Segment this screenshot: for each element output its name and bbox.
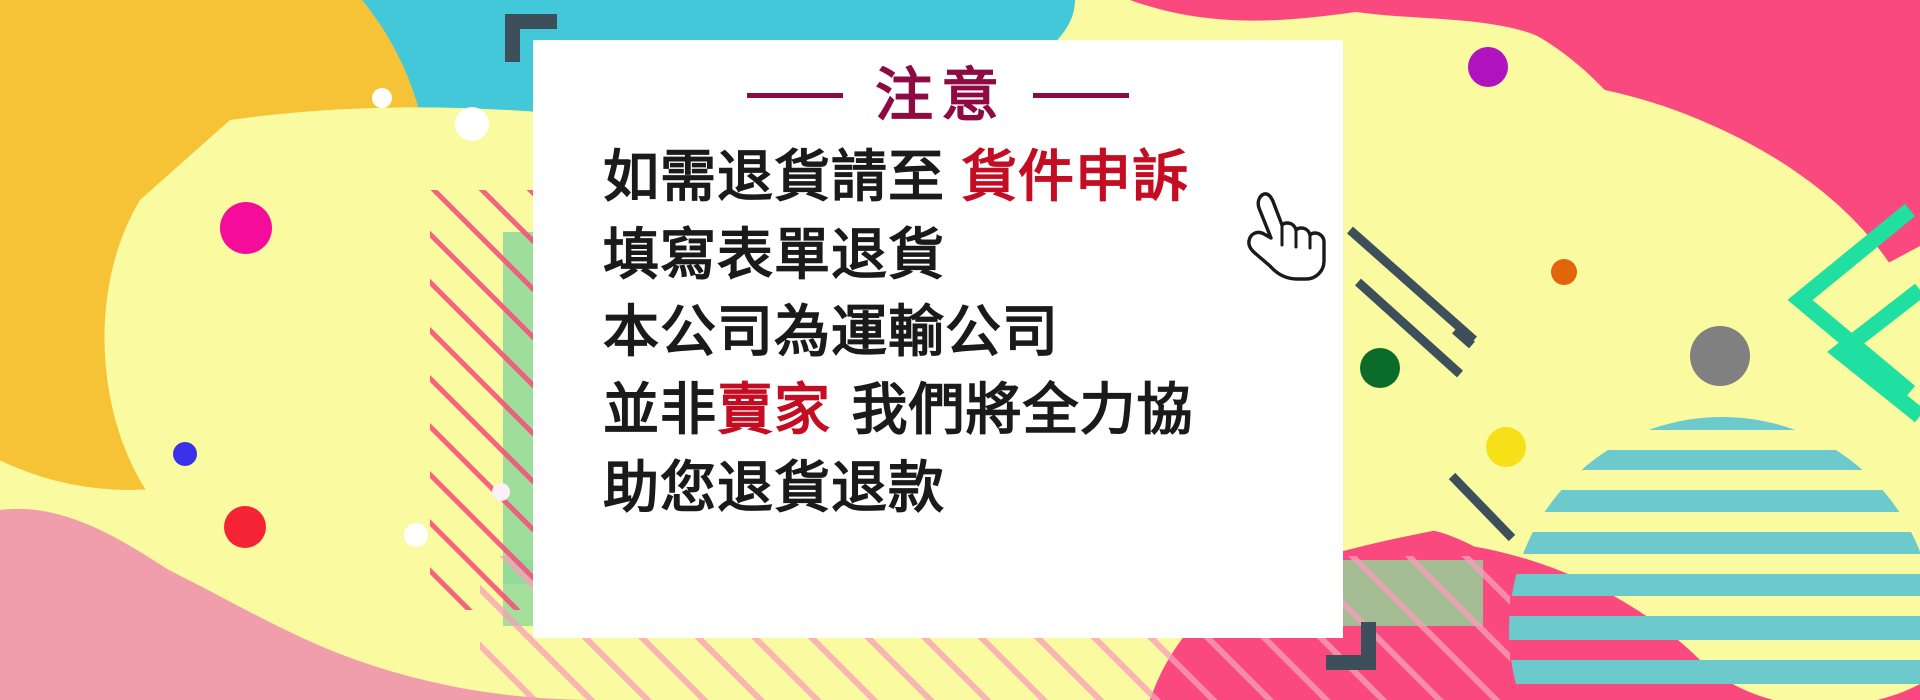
corner-bracket-bottom-right — [1326, 622, 1376, 670]
dot-red — [224, 506, 266, 548]
notice-card-content: 注意 如需退貨請至貨件申訴 填寫表單退貨 本公司為運輸公司 並非賣家 我們將全力… — [533, 40, 1343, 638]
notice-line-2: 填寫表單退貨 — [603, 220, 1303, 292]
dot-dark-green — [1360, 348, 1400, 388]
notice-title-row: 注意 — [573, 54, 1303, 136]
dot-gray — [1690, 326, 1750, 386]
notice-line-5: 助您退貨退款 — [603, 453, 1303, 525]
dot-magenta — [220, 202, 272, 254]
notice-line-3: 本公司為運輸公司 — [603, 297, 1303, 369]
notice-line-4-emphasis: 賣家 — [717, 378, 831, 443]
notice-line-4-suffix: 我們將全力協 — [831, 378, 1194, 443]
dot-white-d — [492, 483, 510, 501]
notice-line-1-link[interactable]: 貨件申訴 — [961, 145, 1189, 210]
promo-banner: 注意 如需退貨請至貨件申訴 填寫表單退貨 本公司為運輸公司 並非賣家 我們將全力… — [0, 0, 1920, 700]
notice-line-4-prefix: 並非 — [603, 378, 717, 443]
bracket-bar-vertical — [1361, 622, 1376, 670]
bracket-bar-vertical — [505, 14, 520, 62]
title-rule-left — [747, 93, 843, 98]
corner-bracket-top-left — [505, 14, 557, 62]
notice-line-5-plain: 助您退貨退款 — [603, 456, 945, 521]
notice-body: 如需退貨請至貨件申訴 填寫表單退貨 本公司為運輸公司 並非賣家 我們將全力協 助… — [573, 142, 1303, 524]
dot-purple — [1468, 47, 1508, 87]
notice-title: 注意 — [869, 66, 1007, 124]
dot-white-a — [372, 88, 392, 108]
notice-card: 注意 如需退貨請至貨件申訴 填寫表單退貨 本公司為運輸公司 並非賣家 我們將全力… — [533, 40, 1343, 638]
dot-blue — [173, 442, 197, 466]
dot-orange — [1551, 259, 1577, 285]
notice-line-1: 如需退貨請至貨件申訴 — [603, 142, 1303, 214]
dot-yellow — [1486, 427, 1526, 467]
notice-line-3-plain: 本公司為運輸公司 — [603, 300, 1059, 365]
dot-white-c — [404, 523, 428, 547]
notice-line-1-plain: 如需退貨請至 — [603, 145, 945, 210]
title-rule-right — [1033, 93, 1129, 98]
notice-line-4: 並非賣家 我們將全力協 — [603, 375, 1303, 447]
dot-white-b — [455, 107, 489, 141]
notice-line-2-plain: 填寫表單退貨 — [603, 223, 945, 288]
